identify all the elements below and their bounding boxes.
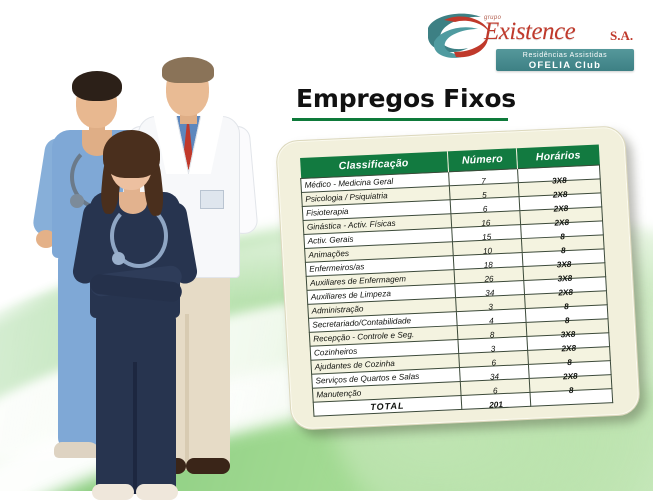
nurse-female-hair [103,130,160,178]
nurse-female-stethoscope-bell-icon [112,252,125,265]
nurse-male-shoe [54,442,100,458]
cell-horarios: 3X8 [518,165,600,183]
doctor-male-leg-split [185,314,189,470]
logo-brand-name: Existence [484,18,575,46]
doctor-male-shoe-right [186,458,230,474]
nurse-male-hair [72,71,122,101]
logo-banner-line2: OFELIA Club [496,61,634,71]
nurse-female-leg-split [133,362,137,494]
title-underline [292,118,508,121]
table-body: Médico - Medicina Geral73X8Psicologia / … [301,165,613,416]
cell-numero: 7 [448,169,518,186]
nurse-female-shoe-left [92,484,134,500]
jobs-table-card: Classificação Número Horários Médico - M… [275,125,641,430]
nurse-female-shoe-right [136,484,178,500]
logo-sa-suffix: S.A. [610,28,633,44]
logo-banner: Residências Assistidas OFELIA Club [496,49,634,71]
company-logo: grupo Existence S.A. Residências Assisti… [424,6,649,72]
card-surface: Classificação Número Horários Médico - M… [275,125,641,430]
fixed-jobs-table: Classificação Número Horários Médico - M… [299,144,613,416]
nurse-male-stethoscope-bell-icon [70,194,84,208]
slide-title-wrapper: Empregos Fixos [296,84,596,113]
page-title: Empregos Fixos [296,84,596,113]
healthcare-team-photo [14,52,282,491]
doctor-male-hair [162,57,214,83]
doctor-male-id-badge [200,190,224,209]
